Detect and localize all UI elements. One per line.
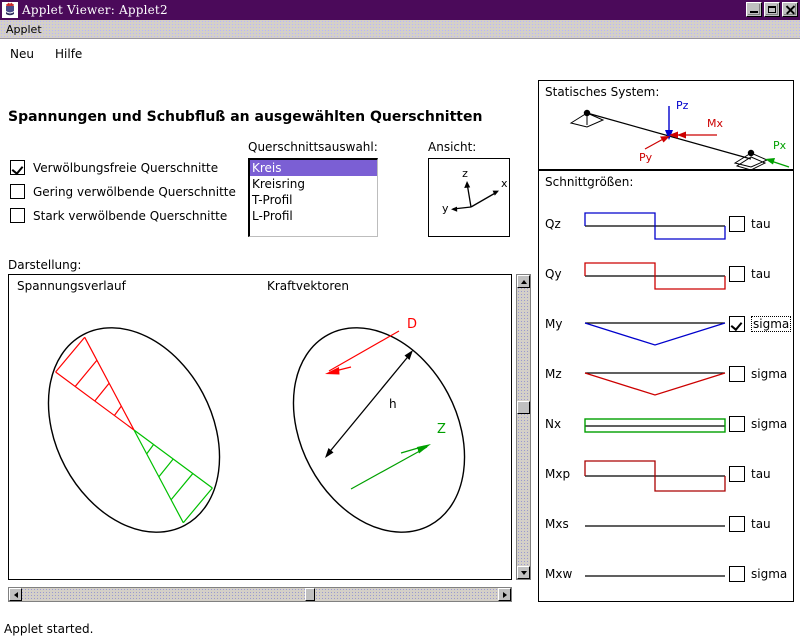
checkbox-gering-verwoelbend[interactable] [10, 184, 25, 199]
axis-label-z: z [462, 167, 468, 180]
force-checkbox-qz[interactable]: tau [729, 216, 771, 232]
static-system-panel: Statisches System: Pz Mx [538, 80, 794, 170]
internal-forces-panel: Schnittgrößen: Qz tau Qy [538, 170, 794, 602]
force-diagram-mz [583, 351, 727, 401]
force-diagram-mxp [583, 451, 727, 501]
menu-item-applet[interactable]: Applet [0, 23, 48, 36]
checkbox-qz-tau[interactable] [729, 216, 745, 232]
load-label-px: Px [773, 139, 787, 152]
status-text: Applet started. [4, 622, 93, 636]
force-vectors-drawing: h D Z [259, 295, 509, 575]
force-label-qy: Qy [545, 267, 581, 281]
force-diagram-nx [583, 401, 727, 451]
checkbox-label-mz-sigma: sigma [751, 367, 787, 381]
load-label-py: Py [639, 151, 653, 164]
checkbox-qy-tau[interactable] [729, 266, 745, 282]
panel-caption-spannungsverlauf: Spannungsverlauf [17, 279, 126, 293]
view-label: Ansicht: [428, 140, 510, 154]
applet-content: Neu Hilfe Spannungen und Schubfluß an au… [0, 39, 800, 575]
force-label-mxw: Mxw [545, 567, 581, 581]
force-checkbox-qy[interactable]: tau [729, 266, 771, 282]
vector-label-z: Z [437, 422, 446, 437]
horizontal-scroll-thumb[interactable] [305, 588, 315, 601]
force-checkbox-my[interactable]: sigma [729, 316, 791, 332]
force-label-my: My [545, 317, 581, 331]
list-item-l-profil[interactable]: L-Profil [250, 208, 377, 224]
panel-caption-kraftvektoren: Kraftvektoren [267, 279, 349, 293]
maximize-button[interactable] [764, 2, 780, 17]
checkbox-mxw-sigma[interactable] [729, 566, 745, 582]
scroll-up-button[interactable] [517, 275, 530, 288]
cross-section-label: Querschnittsauswahl: [248, 140, 378, 154]
cross-section-listbox[interactable]: Kreis Kreisring T-Profil L-Profil [248, 158, 378, 237]
force-row-mxw: Mxw sigma [539, 551, 794, 601]
static-system-diagram: Pz Mx Py Px [539, 101, 793, 169]
window-title: Applet Viewer: Applet2 [22, 3, 168, 17]
applet-toolbar: Neu Hilfe [0, 47, 530, 65]
force-row-mz: Mz sigma [539, 351, 794, 401]
page-title: Spannungen und Schubfluß an ausgewählten… [8, 109, 482, 125]
force-row-qz: Qz tau [539, 201, 794, 251]
checkbox-row-stark-verwoelbend[interactable]: Stark verwölbende Querschnitte [10, 205, 236, 226]
java-coffee-cup-icon [2, 2, 18, 18]
checkbox-nx-sigma[interactable] [729, 416, 745, 432]
force-label-mxp: Mxp [545, 467, 581, 481]
checkbox-label-qz-tau: tau [751, 217, 771, 231]
scroll-right-button[interactable] [498, 588, 511, 601]
menu-bar: Applet [0, 20, 800, 39]
list-item-t-profil[interactable]: T-Profil [250, 192, 377, 208]
list-item-kreis[interactable]: Kreis [250, 160, 377, 176]
checkbox-mxp-tau[interactable] [729, 466, 745, 482]
force-diagram-mxw [583, 551, 727, 601]
checkbox-label-qy-tau: tau [751, 267, 771, 281]
force-diagram-qz [583, 201, 727, 251]
force-checkbox-mz[interactable]: sigma [729, 366, 787, 382]
axis-label-x: x [501, 177, 508, 190]
view-widget: Ansicht: z x y [428, 140, 510, 237]
applet-viewer-window: Applet Viewer: Applet2 Applet Neu Hilfe … [0, 0, 800, 600]
checkbox-verwoelbungsfrei[interactable] [10, 160, 25, 175]
checkbox-label-nx-sigma: sigma [751, 417, 787, 431]
cross-section-type-group: Verwölbungsfreie Querschnitte Gering ver… [10, 157, 236, 229]
force-label-mz: Mz [545, 367, 581, 381]
force-label-qz: Qz [545, 217, 581, 231]
checkbox-my-sigma[interactable] [729, 316, 745, 332]
force-row-qy: Qy tau [539, 251, 794, 301]
force-checkbox-mxp[interactable]: tau [729, 466, 771, 482]
display-label: Darstellung: [8, 258, 81, 272]
checkbox-label-gering-verwoelbend: Gering verwölbende Querschnitte [33, 185, 236, 199]
checkbox-mz-sigma[interactable] [729, 366, 745, 382]
load-label-pz: Pz [676, 101, 689, 112]
checkbox-mxs-tau[interactable] [729, 516, 745, 532]
internal-forces-caption: Schnittgrößen: [545, 175, 633, 189]
list-item-kreisring[interactable]: Kreisring [250, 176, 377, 192]
checkbox-label-mxs-tau: tau [751, 517, 771, 531]
cross-section-selector: Querschnittsauswahl: Kreis Kreisring T-P… [248, 140, 378, 237]
force-checkbox-mxw[interactable]: sigma [729, 566, 787, 582]
checkbox-row-verwoelbungsfrei[interactable]: Verwölbungsfreie Querschnitte [10, 157, 236, 178]
axis-label-y: y [442, 202, 449, 215]
force-row-mxp: Mxp tau [539, 451, 794, 501]
checkbox-row-gering-verwoelbend[interactable]: Gering verwölbende Querschnitte [10, 181, 236, 202]
static-system-caption: Statisches System: [545, 85, 659, 99]
force-checkbox-mxs[interactable]: tau [729, 516, 771, 532]
force-diagram-my [583, 301, 727, 351]
checkbox-label-verwoelbungsfrei: Verwölbungsfreie Querschnitte [33, 161, 218, 175]
vector-label-h: h [389, 397, 397, 411]
window-controls [746, 2, 798, 17]
force-row-mxs: Mxs tau [539, 501, 794, 551]
minimize-button[interactable] [746, 2, 762, 17]
hilfe-button[interactable]: Hilfe [55, 47, 82, 61]
vector-label-d: D [407, 317, 417, 332]
force-diagram-qy [583, 251, 727, 301]
force-checkbox-nx[interactable]: sigma [729, 416, 787, 432]
neu-button[interactable]: Neu [10, 47, 34, 61]
force-row-nx: Nx sigma [539, 401, 794, 451]
title-bar: Applet Viewer: Applet2 [0, 0, 800, 20]
close-button[interactable] [782, 2, 798, 17]
checkbox-stark-verwoelbend[interactable] [10, 208, 25, 223]
vertical-scroll-thumb[interactable] [517, 401, 530, 414]
checkbox-label-mxw-sigma: sigma [751, 567, 787, 581]
checkbox-label-my-sigma: sigma [751, 316, 791, 332]
display-canvas[interactable]: Spannungsverlauf Kraftvektoren [8, 274, 512, 580]
force-row-my: My sigma [539, 301, 794, 351]
checkbox-label-mxp-tau: tau [751, 467, 771, 481]
scroll-down-button[interactable] [517, 566, 530, 579]
view-axes-box[interactable]: z x y [428, 158, 510, 237]
stress-distribution-drawing [9, 295, 259, 575]
force-label-mxs: Mxs [545, 517, 581, 531]
display-vertical-scrollbar[interactable] [516, 274, 531, 580]
force-diagram-mxs [583, 501, 727, 551]
scroll-left-button[interactable] [9, 588, 22, 601]
load-label-mx: Mx [707, 117, 723, 130]
force-label-nx: Nx [545, 417, 581, 431]
checkbox-label-stark-verwoelbend: Stark verwölbende Querschnitte [33, 209, 227, 223]
